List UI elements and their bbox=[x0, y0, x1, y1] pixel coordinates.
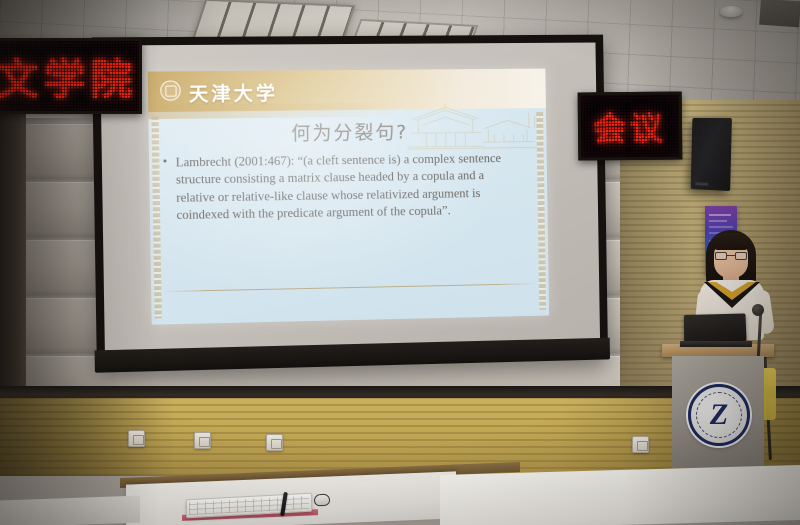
wall-outlet-4 bbox=[632, 436, 649, 453]
foreground-desk-left bbox=[0, 496, 140, 525]
bullet-point-icon bbox=[163, 159, 166, 162]
wall-outlet-1 bbox=[128, 430, 145, 447]
university-name: 天津大学 bbox=[189, 79, 279, 107]
lecture-hall-photo: 天津大学 bbox=[0, 0, 800, 525]
wall-speaker bbox=[691, 118, 732, 191]
university-seal-icon bbox=[160, 80, 181, 100]
foreground-desk-right bbox=[440, 465, 800, 525]
mouse bbox=[314, 493, 331, 506]
presenter-fringe bbox=[712, 233, 750, 250]
laptop-keyboard-base bbox=[680, 341, 752, 347]
wall-outlet-3 bbox=[266, 434, 283, 451]
wall-pillar-left bbox=[0, 100, 26, 400]
projection-screen: 天津大学 bbox=[92, 35, 608, 373]
led-sign-left: 文学院 bbox=[0, 38, 142, 114]
glasses-icon bbox=[715, 252, 747, 260]
led-sign-right: 会议 bbox=[578, 91, 683, 160]
slide-bullet-item: Lambrecht (2001:467): “(a cleft sentence… bbox=[176, 150, 523, 225]
podium: Z bbox=[662, 330, 774, 470]
emblem-letter: Z bbox=[691, 387, 747, 443]
slide-footer-rule bbox=[161, 283, 539, 292]
slide-bullet-text: Lambrecht (2001:467): “(a cleft sentence… bbox=[176, 151, 501, 222]
slide-title: 何为分裂句? bbox=[148, 116, 546, 148]
laptop-screen bbox=[684, 313, 747, 342]
university-emblem: Z bbox=[688, 384, 750, 446]
presentation-slide: 天津大学 bbox=[148, 69, 549, 325]
led-sign-right-text: 会议 bbox=[593, 102, 667, 151]
projection-surface: 天津大学 bbox=[100, 43, 600, 351]
wall-outlet-2 bbox=[194, 432, 211, 449]
slide-bullet-list: Lambrecht (2001:467): “(a cleft sentence… bbox=[176, 150, 523, 225]
led-sign-left-text: 文学院 bbox=[0, 46, 138, 107]
microphone-icon bbox=[752, 304, 764, 316]
